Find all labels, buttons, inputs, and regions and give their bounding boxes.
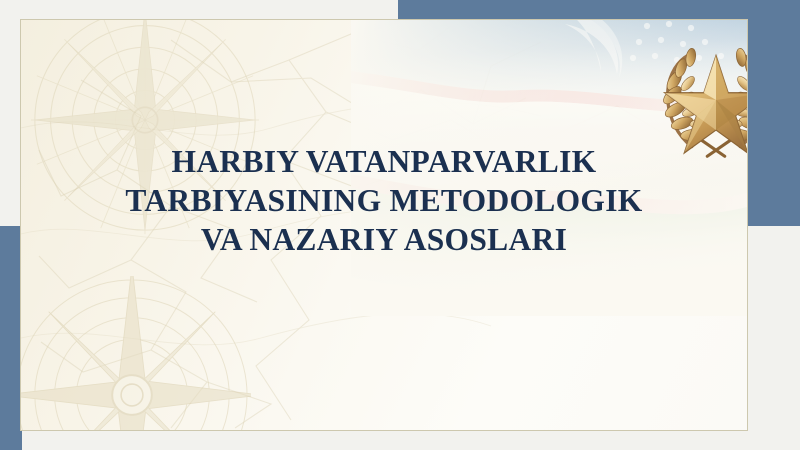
slide-content-card: HARBIY VATANPARVARLIK TARBIYASINING METO…: [20, 19, 748, 431]
compass-rose-watermark-lower: [20, 276, 251, 431]
page-title: HARBIY VATANPARVARLIK TARBIYASINING METO…: [51, 142, 717, 259]
accent-block-bottom-left: [0, 226, 22, 450]
title-line-2: TARBIYASINING METODOLOGIK: [51, 181, 717, 220]
title-line-1: HARBIY VATANPARVARLIK: [51, 142, 717, 181]
presentation-slide: HARBIY VATANPARVARLIK TARBIYASINING METO…: [0, 0, 800, 450]
title-line-3: VA NAZARIY ASOSLARI: [51, 220, 717, 259]
